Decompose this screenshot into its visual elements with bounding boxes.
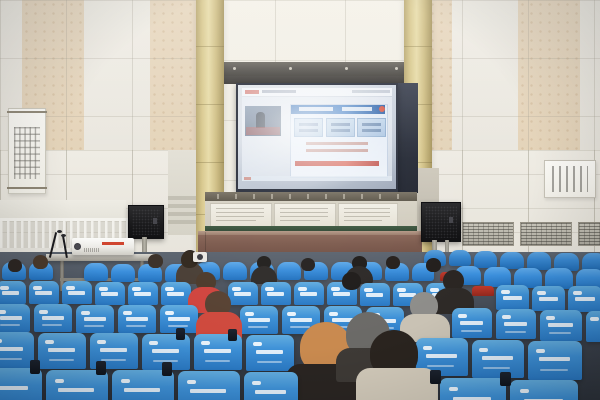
camera-lens-icon [197, 254, 203, 260]
stage-panel-2 [274, 203, 336, 227]
stage-panel-1 [210, 203, 272, 227]
framed-calligraphy-right [544, 160, 596, 198]
audience-body-foreground [356, 368, 438, 400]
seat[interactable] [474, 251, 497, 268]
seat[interactable] [360, 283, 390, 306]
seat[interactable] [34, 304, 72, 332]
slide-text-line-1 [306, 142, 368, 145]
audience-head [148, 254, 163, 268]
slide-nav-text [352, 90, 390, 93]
seat[interactable] [261, 282, 291, 305]
armrest [500, 372, 511, 386]
seat[interactable] [38, 333, 86, 369]
seat[interactable] [223, 262, 247, 280]
seat[interactable] [76, 305, 114, 333]
seat[interactable] [246, 335, 294, 371]
seat[interactable] [568, 286, 600, 312]
slide-box-2 [326, 118, 355, 137]
stage-back-rail [205, 192, 417, 201]
dark-wall-panel [396, 83, 418, 193]
audience-head [8, 259, 22, 272]
seat[interactable] [472, 340, 524, 378]
calligraphy-scroll-left [8, 108, 46, 194]
speaker-left [128, 205, 164, 239]
seat[interactable] [440, 378, 506, 400]
armrest [30, 360, 40, 374]
seat[interactable] [510, 380, 578, 400]
slide-footer-badge [244, 177, 251, 180]
stage-panel-3 [338, 203, 398, 227]
seat[interactable] [496, 285, 529, 310]
seat[interactable] [532, 286, 565, 311]
seat[interactable] [540, 310, 582, 341]
audience-head [342, 272, 361, 290]
slide-box-1 [294, 118, 323, 137]
conference-hall-photo [0, 0, 600, 400]
seat[interactable] [228, 282, 258, 305]
seat[interactable] [62, 281, 92, 304]
seat[interactable] [84, 263, 108, 281]
seat[interactable] [118, 305, 156, 333]
projector[interactable] [72, 238, 134, 255]
seat[interactable] [244, 372, 298, 400]
armrest [228, 329, 237, 341]
seat[interactable] [452, 308, 492, 338]
armrest [176, 328, 185, 340]
armrest [162, 362, 172, 376]
slide-panel-title-right [342, 107, 372, 111]
armrest [96, 361, 106, 375]
audience-head [426, 258, 441, 272]
speaker-right [421, 202, 461, 242]
seat[interactable] [449, 250, 471, 266]
seat[interactable] [0, 332, 34, 368]
wall-vent-2 [520, 222, 572, 246]
seat[interactable] [277, 262, 301, 280]
seat[interactable] [0, 281, 26, 304]
armrest [430, 370, 441, 384]
projector-table [46, 254, 156, 261]
calligraphy-glyphs [552, 166, 588, 192]
seat[interactable] [496, 309, 536, 339]
slide-footer-bar [242, 176, 392, 181]
slide-brand-text [262, 90, 296, 93]
seat[interactable] [240, 306, 278, 334]
seat[interactable] [586, 311, 600, 342]
slide-text-line-2 [306, 149, 368, 152]
seat[interactable] [0, 304, 30, 332]
slide-panel-title-left [299, 107, 333, 111]
seat[interactable] [95, 282, 125, 305]
accent-seat[interactable] [472, 286, 494, 296]
slide-panel-badge-icon [379, 106, 385, 112]
audience-head [33, 255, 48, 269]
slide-box-3 [357, 118, 386, 137]
seat[interactable] [128, 282, 158, 305]
slide-logo-icon [245, 90, 259, 94]
wall-vent-1 [462, 222, 514, 246]
wall-vent-3 [578, 222, 600, 246]
seat[interactable] [29, 281, 59, 304]
stage-platform-edge [198, 231, 422, 235]
slide-red-banner [295, 161, 379, 166]
seat[interactable] [111, 264, 135, 282]
seat[interactable] [484, 267, 511, 287]
seat[interactable] [294, 282, 324, 305]
audience-head [301, 258, 315, 271]
slide-photo-accent [246, 127, 280, 135]
slide-content-panel [290, 104, 388, 178]
seat[interactable] [528, 341, 582, 380]
scroll-glyphs [14, 127, 40, 179]
seat[interactable] [178, 371, 240, 400]
projector-lens-icon [74, 243, 81, 250]
seat[interactable] [161, 282, 191, 305]
audience-head [386, 256, 400, 269]
